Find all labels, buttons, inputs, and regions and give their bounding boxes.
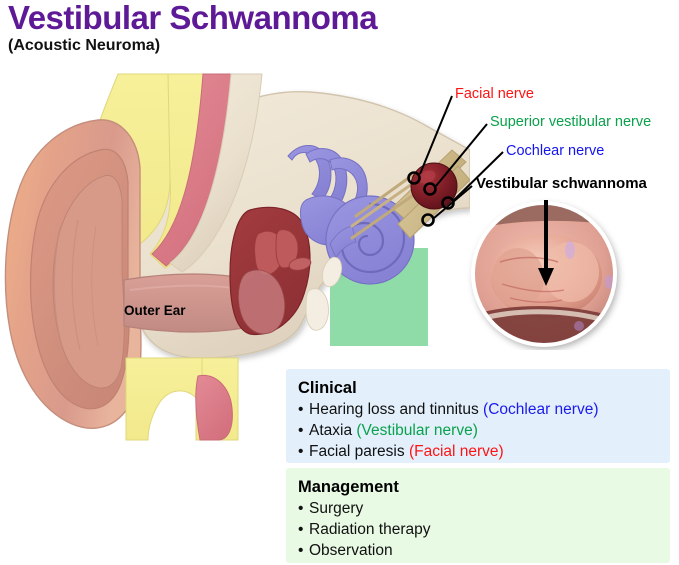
slide-canvas: Vestibular Schwannoma (Acoustic Neuroma) <box>0 0 679 565</box>
clinical-item-text: Facial paresis <box>309 443 409 460</box>
clinical-info-box: Clinical Hearing loss and tinnitus (Coch… <box>286 369 670 463</box>
clinical-heading: Clinical <box>298 378 670 398</box>
page-subtitle: (Acoustic Neuroma) <box>8 37 377 55</box>
callout-vestibular-schwannoma: Vestibular schwannoma <box>476 176 647 192</box>
callout-facial-nerve: Facial nerve <box>455 86 534 102</box>
clinical-item-tag: (Cochlear nerve) <box>483 401 598 418</box>
management-list: Surgery Radiation therapy Observation <box>298 498 670 561</box>
management-item-text: Observation <box>309 542 393 559</box>
management-item-text: Radiation therapy <box>309 521 431 538</box>
clinical-list: Hearing loss and tinnitus (Cochlear nerv… <box>298 399 670 462</box>
list-item: Hearing loss and tinnitus (Cochlear nerv… <box>298 399 670 420</box>
list-item: Radiation therapy <box>298 519 670 540</box>
management-info-box: Management Surgery Radiation therapy Obs… <box>286 468 670 563</box>
clinical-item-tag: (Vestibular nerve) <box>356 422 477 439</box>
callout-superior-vestibular-nerve: Superior vestibular nerve <box>490 114 651 130</box>
list-item: Observation <box>298 540 670 561</box>
callout-cochlear-nerve: Cochlear nerve <box>506 143 604 159</box>
clinical-item-text: Hearing loss and tinnitus <box>309 401 483 418</box>
management-heading: Management <box>298 477 670 497</box>
list-item: Facial paresis (Facial nerve) <box>298 441 670 462</box>
list-item: Surgery <box>298 498 670 519</box>
eustachian-tube <box>306 289 329 330</box>
list-item: Ataxia (Vestibular nerve) <box>298 420 670 441</box>
endoscopic-tumor-photo <box>466 198 626 350</box>
clinical-item-text: Ataxia <box>309 422 356 439</box>
page-title: Vestibular Schwannoma <box>8 0 377 36</box>
photo-specular-3 <box>574 321 584 331</box>
management-item-text: Surgery <box>309 500 363 517</box>
outer-ear-label: Outer Ear <box>124 303 186 318</box>
photo-specular-1 <box>565 241 575 259</box>
clinical-item-tag: (Facial nerve) <box>409 443 504 460</box>
title-block: Vestibular Schwannoma (Acoustic Neuroma) <box>8 0 377 55</box>
